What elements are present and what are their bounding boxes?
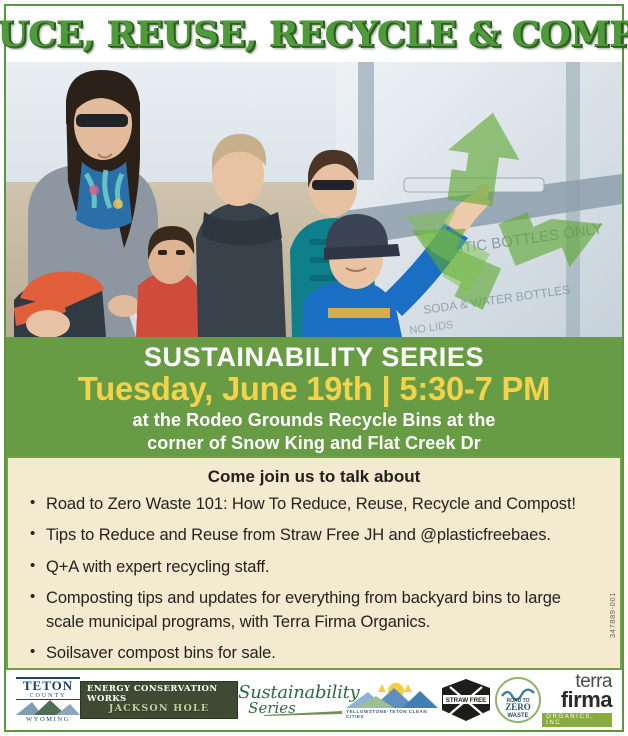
- event-location-line2: corner of Snow King and Flat Creek Dr: [6, 432, 622, 455]
- event-datetime: Tuesday, June 19th | 5:30-7 PM: [9, 372, 619, 407]
- logo-terra-firma-organics: terra firma ORGANICS, INC: [542, 673, 612, 726]
- sun-mountains-icon: [346, 682, 438, 708]
- logo-road-to-zero-waste: ROAD TO ZERO WASTE: [494, 676, 542, 724]
- teton-line2: COUNTY: [16, 693, 80, 699]
- teton-wordmark: TETON COUNTY: [16, 677, 80, 700]
- tf-line3: ORGANICS, INC: [542, 713, 612, 727]
- sponsor-logos: TETON COUNTY WYOMING ENERGY CONSERVATION…: [6, 670, 622, 730]
- teton-line1: TETON: [16, 679, 80, 693]
- ecw-line1: ENERGY CONSERVATION WORKS: [87, 685, 231, 704]
- swoosh-icon: [264, 711, 342, 716]
- straw-free-text: STRAW FREE: [446, 697, 487, 704]
- details-heading: Come join us to talk about: [8, 467, 620, 487]
- rzw-line3: WASTE: [508, 713, 529, 719]
- details-panel: Come join us to talk about Road to Zero …: [6, 456, 622, 670]
- logo-straw-free: STRAW FREE: [438, 678, 494, 722]
- list-item: Tips to Reduce and Reuse from Straw Free…: [30, 524, 594, 547]
- mountain-icon: [16, 700, 80, 715]
- zero-waste-circle-icon: ROAD TO ZERO WASTE: [494, 676, 542, 724]
- poster-flyer: REDUCE, REUSE, RECYCLE & COMPOST: [0, 0, 628, 736]
- list-item: Soilsaver compost bins for sale.: [30, 642, 594, 665]
- list-item: Q+A with expert recycling staff.: [30, 556, 594, 579]
- teton-line3: WYOMING: [26, 716, 70, 723]
- page-title: REDUCE, REUSE, RECYCLE & COMPOST: [0, 14, 628, 55]
- topics-list: Road to Zero Waste 101: How To Reduce, R…: [8, 493, 620, 666]
- straw-free-badge-icon: STRAW FREE: [438, 678, 494, 722]
- logo-energy-conservation-works: ENERGY CONSERVATION WORKS JACKSON HOLE: [80, 681, 238, 718]
- ecw-line2: JACKSON HOLE: [109, 704, 209, 714]
- rzw-line2: ZERO: [505, 702, 531, 712]
- poster-title-bar: REDUCE, REUSE, RECYCLE & COMPOST: [6, 6, 622, 62]
- event-info-band: SUSTAINABILITY SERIES Tuesday, June 19th…: [6, 337, 622, 456]
- ytcc-label: YELLOWSTONE-TETON CLEAN CITIES: [346, 709, 438, 719]
- logo-sustainability-series: Sustainability Series: [238, 684, 346, 716]
- photo-illustration: PLASTIC BOTTLES ONLY SODA & WATER BOTTLE…: [6, 62, 622, 337]
- list-item: Composting tips and updates for everythi…: [30, 587, 594, 634]
- logo-yellowstone-teton-clean-cities: YELLOWSTONE-TETON CLEAN CITIES: [346, 682, 438, 719]
- print-code: 347889-001: [608, 592, 617, 638]
- logo-teton-county: TETON COUNTY WYOMING: [16, 677, 80, 723]
- tf-line2: firma: [561, 690, 612, 710]
- hero-photo: PLASTIC BOTTLES ONLY SODA & WATER BOTTLE…: [6, 62, 622, 337]
- list-item: Road to Zero Waste 101: How To Reduce, R…: [30, 493, 594, 516]
- series-title: SUSTAINABILITY SERIES: [6, 343, 622, 371]
- event-location-line1: at the Rodeo Grounds Recycle Bins at the: [6, 409, 622, 432]
